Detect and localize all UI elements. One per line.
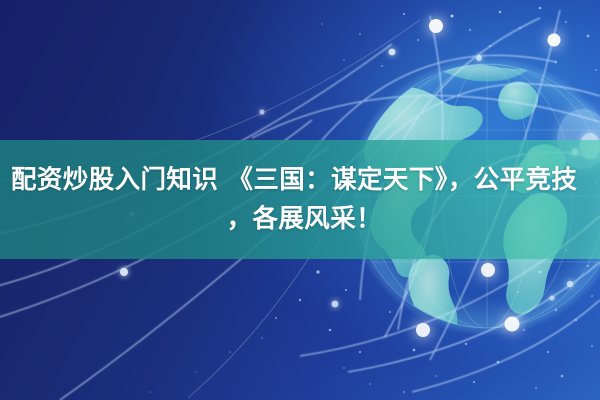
title-line-1: 配资炒股入门知识 《三国：谋定天下》，公平竞技 bbox=[11, 161, 577, 200]
banner-title: 配资炒股入门知识 《三国：谋定天下》，公平竞技 ，各展风采！ bbox=[0, 140, 600, 259]
promo-banner: 配资炒股入门知识 《三国：谋定天下》，公平竞技 ，各展风采！ bbox=[0, 0, 600, 400]
title-line-2: ，各展风采！ bbox=[227, 200, 589, 239]
